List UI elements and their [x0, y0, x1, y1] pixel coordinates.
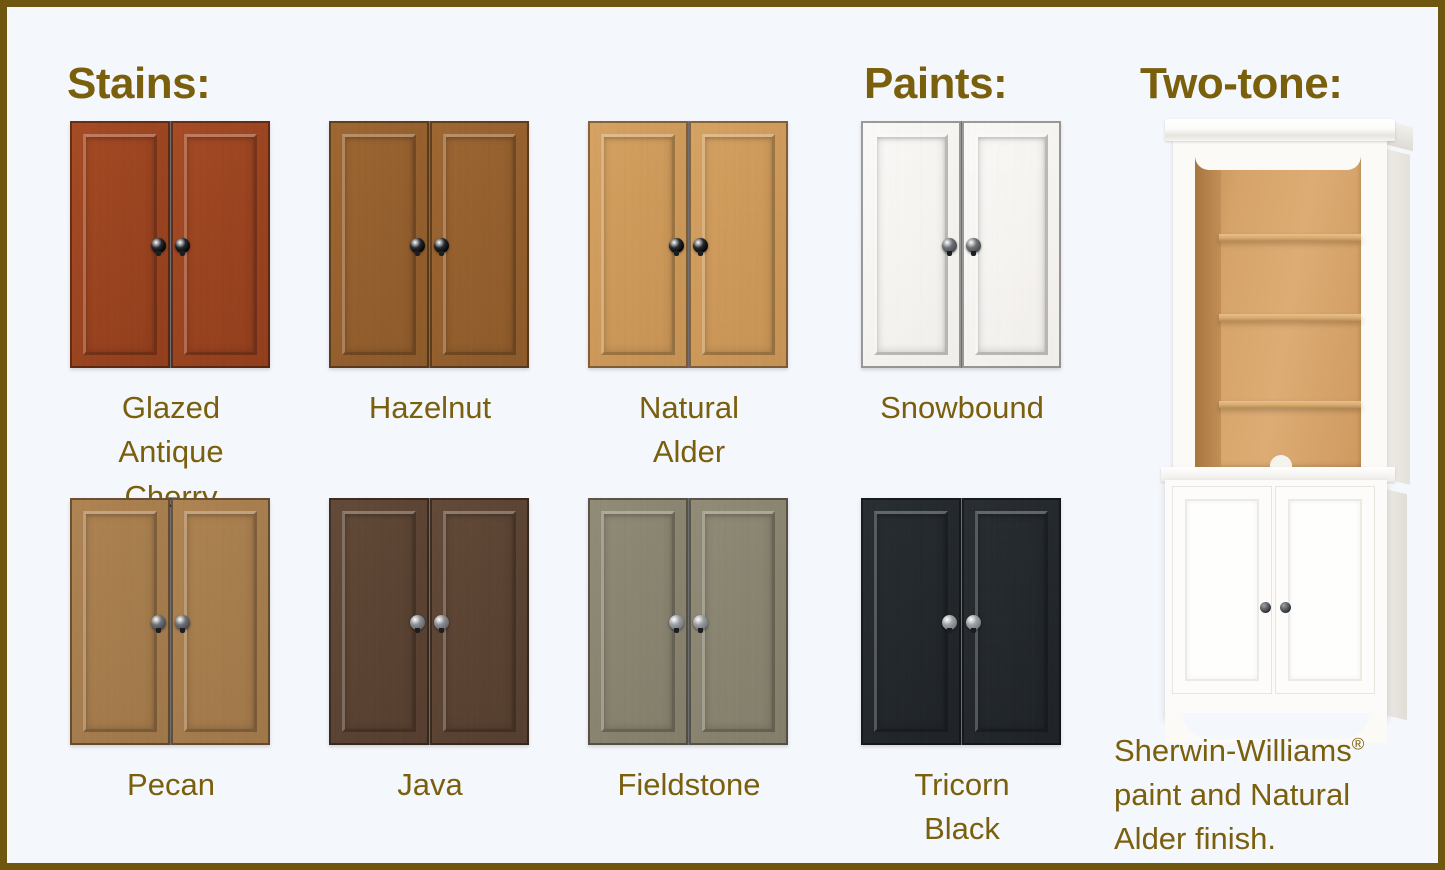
finish-label: Java [329, 763, 531, 807]
cabinet-door-left [588, 121, 689, 368]
cabinet-door-right [430, 498, 530, 745]
cabinet-door-left [70, 121, 171, 368]
two-tone-caption-brand: Sherwin-Williams [1114, 733, 1352, 768]
finish-options-poster: Stains: Paints: Two-tone: Glazed Antique… [0, 0, 1445, 870]
cabinet-door-pair [329, 121, 529, 368]
finish-swatch-glazed-antique-cherry[interactable]: Glazed Antique Cherry [70, 121, 272, 519]
door-knob-icon [693, 615, 708, 630]
bookcase-shelf [1219, 234, 1361, 241]
finish-label-line-1: Pecan [70, 763, 272, 807]
cabinet-door-left [861, 498, 962, 745]
door-knob-icon [434, 238, 449, 253]
finish-label: Snowbound [861, 386, 1063, 430]
door-knob-icon [410, 238, 425, 253]
door-panel [702, 134, 776, 355]
bookcase-interior-wood [1195, 156, 1361, 467]
heading-stains: Stains: [67, 59, 210, 109]
two-tone-caption-text: paint and Natural Alder finish. [1114, 777, 1350, 856]
door-panel [874, 511, 948, 732]
door-knob-icon [669, 615, 684, 630]
cabinet-door-pair [588, 121, 788, 368]
door-knob-icon [966, 238, 981, 253]
bookcase-crown-molding [1165, 119, 1395, 141]
cabinet-door-right [171, 121, 271, 368]
bookcase-hutch-frame [1173, 139, 1387, 479]
door-panel [975, 511, 1049, 732]
door-panel [874, 134, 948, 355]
bookcase-base-cabinet [1165, 467, 1391, 729]
finish-label-line-1: Hazelnut [329, 386, 531, 430]
heading-paints: Paints: [864, 59, 1007, 109]
cabinet-door-right [430, 121, 530, 368]
cabinet-door-right [962, 498, 1062, 745]
registered-trademark-icon: ® [1352, 735, 1365, 754]
cabinet-door-left [329, 121, 430, 368]
cabinet-door-pair [70, 121, 270, 368]
cabinet-door-right [689, 498, 789, 745]
door-knob-icon [693, 238, 708, 253]
door-panel [184, 511, 258, 732]
door-panel [443, 134, 517, 355]
finish-label: Hazelnut [329, 386, 531, 430]
finish-label: Tricorn Black [861, 763, 1063, 852]
finish-swatch-snowbound[interactable]: Snowbound [861, 121, 1063, 430]
finish-label: Pecan [70, 763, 272, 807]
finish-swatch-java[interactable]: Java [329, 498, 531, 807]
base-door-panel [1288, 499, 1362, 681]
door-knob-icon [942, 238, 957, 253]
door-panel [443, 511, 517, 732]
door-panel [83, 511, 157, 732]
finish-label-line-1: Fieldstone [588, 763, 790, 807]
finish-label-line-1: Natural [588, 386, 790, 430]
door-panel [702, 511, 776, 732]
cabinet-door-pair [70, 498, 270, 745]
base-cabinet-frame [1165, 480, 1387, 718]
base-door-knob-icon [1280, 602, 1291, 613]
door-panel [83, 134, 157, 355]
cabinet-door-right [171, 498, 271, 745]
bookcase-top-arch [1195, 156, 1361, 170]
base-door-right [1275, 486, 1375, 694]
finish-swatch-fieldstone[interactable]: Fieldstone [588, 498, 790, 807]
cabinet-door-pair [861, 498, 1061, 745]
finish-swatch-hazelnut[interactable]: Hazelnut [329, 121, 531, 430]
base-door-panel [1185, 499, 1259, 681]
cabinet-door-left [588, 498, 689, 745]
base-door-left [1172, 486, 1272, 694]
door-panel [184, 134, 258, 355]
door-panel [342, 134, 416, 355]
cabinet-door-pair [861, 121, 1061, 368]
cord-notch [1270, 455, 1292, 467]
door-knob-icon [175, 615, 190, 630]
finish-label: Natural Alder [588, 386, 790, 475]
finish-swatch-tricorn-black[interactable]: Tricorn Black [861, 498, 1063, 852]
door-knob-icon [942, 615, 957, 630]
finish-label-line-1: Java [329, 763, 531, 807]
finish-label-line-2: Alder [588, 430, 790, 474]
cabinet-door-left [70, 498, 171, 745]
two-tone-bookcase-image [1159, 119, 1417, 729]
door-knob-icon [175, 238, 190, 253]
door-panel [342, 511, 416, 732]
door-knob-icon [966, 615, 981, 630]
cabinet-door-right [689, 121, 789, 368]
heading-two-tone: Two-tone: [1140, 59, 1342, 109]
bookcase-shelf [1219, 401, 1361, 408]
door-panel [601, 134, 675, 355]
finish-label: Fieldstone [588, 763, 790, 807]
door-knob-icon [669, 238, 684, 253]
bookcase-shelf [1219, 314, 1361, 321]
cabinet-door-pair [588, 498, 788, 745]
finish-label-line-1: Snowbound [861, 386, 1063, 430]
finish-swatch-natural-alder[interactable]: Natural Alder [588, 121, 790, 475]
bookcase-hutch [1173, 119, 1387, 479]
door-knob-icon [151, 615, 166, 630]
bookcase-interior-left-wall [1195, 156, 1221, 467]
door-panel [975, 134, 1049, 355]
two-tone-caption: Sherwin-Williams® paint and Natural Alde… [1114, 729, 1424, 861]
door-knob-icon [410, 615, 425, 630]
finish-label-line-1: Glazed [70, 386, 272, 430]
door-knob-icon [434, 615, 449, 630]
base-door-knob-icon [1260, 602, 1271, 613]
finish-swatch-pecan[interactable]: Pecan [70, 498, 272, 807]
cabinet-door-right [962, 121, 1062, 368]
door-knob-icon [151, 238, 166, 253]
cabinet-door-left [861, 121, 962, 368]
cabinet-door-left [329, 498, 430, 745]
finish-label-line-2: Black [861, 807, 1063, 851]
door-panel [601, 511, 675, 732]
cabinet-door-pair [329, 498, 529, 745]
finish-label-line-1: Tricorn [861, 763, 1063, 807]
